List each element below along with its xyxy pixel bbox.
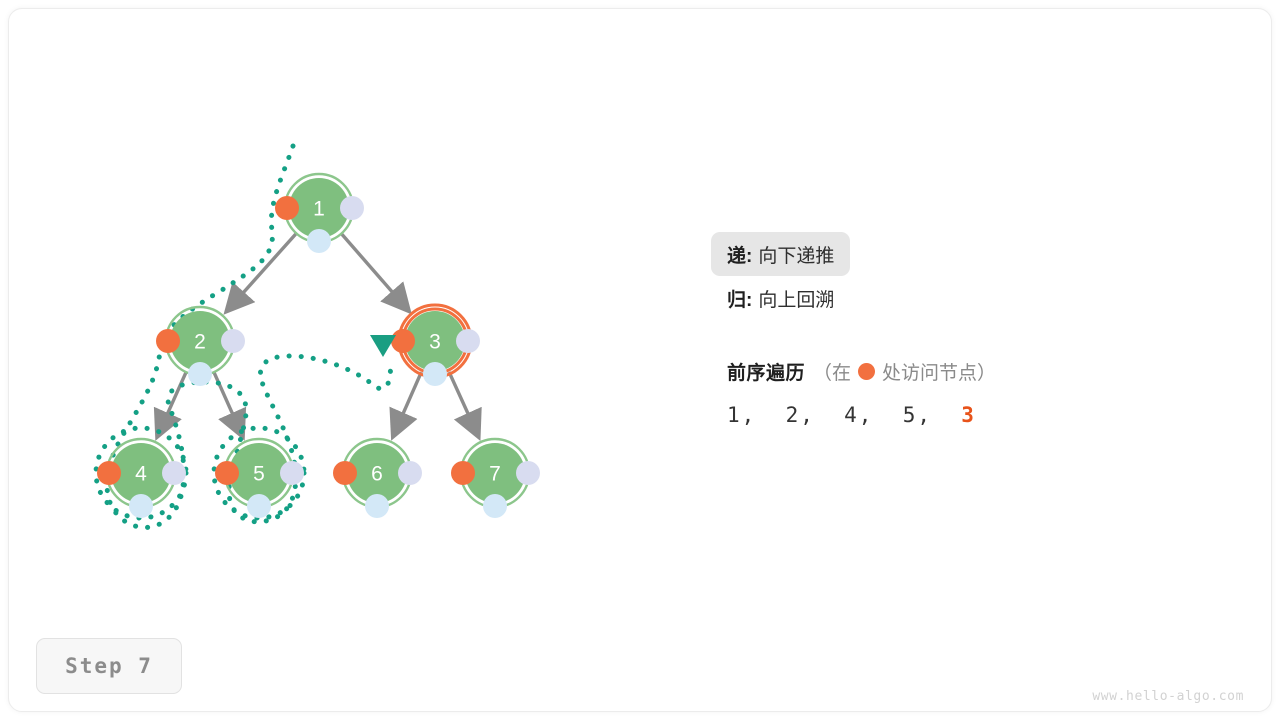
node-label: 1 (313, 198, 325, 221)
node-label: 4 (135, 463, 147, 486)
tree-node-7[interactable]: 7 (451, 439, 540, 518)
node-label: 7 (489, 463, 501, 486)
node-visit-dot (215, 461, 239, 485)
node-bottom-dot (188, 362, 212, 386)
tree-edge-n3-n6 (394, 372, 421, 434)
node-label: 3 (429, 331, 441, 354)
legend-value-return: 向上回溯 (758, 285, 834, 312)
tree-edge-n1-n3 (341, 234, 407, 310)
legend-panel: 递: 向下递推 归: 向上回溯 (727, 232, 1207, 320)
tree-node-2[interactable]: 2 (156, 307, 245, 386)
node-visit-dot (156, 329, 180, 353)
node-visit-dot (451, 461, 475, 485)
legend-value-recurse: 向下递推 (758, 241, 834, 268)
node-right-dot (280, 461, 304, 485)
traversal-title-main: 前序遍历 (727, 358, 805, 385)
traversal-note-suffix: 处访问节点） (882, 358, 996, 385)
node-bottom-dot (423, 362, 447, 386)
traversal-sequence: 1, 2, 4, 5, 3 (727, 403, 1227, 427)
legend-key-recurse: 递: (727, 241, 752, 268)
tree-edge-n1-n2 (228, 233, 296, 309)
node-right-dot (516, 461, 540, 485)
tree-nodes: 1234567 (97, 174, 540, 518)
node-label: 5 (253, 463, 265, 486)
node-right-dot (398, 461, 422, 485)
tree-node-6[interactable]: 6 (333, 439, 422, 518)
node-bottom-dot (247, 494, 271, 518)
node-label: 6 (371, 463, 383, 486)
legend-row-return: 归: 向上回溯 (711, 276, 1207, 320)
tree-edge-n3-n7 (449, 372, 478, 435)
node-right-dot (162, 461, 186, 485)
visit-marker-icon (858, 363, 875, 380)
legend-row-recurse: 递: 向下递推 (711, 232, 850, 276)
traversal-title: 前序遍历 （在 处访问节点） (727, 358, 1227, 385)
traversal-title-note: （在 处访问节点） (813, 358, 996, 385)
node-right-dot (221, 329, 245, 353)
traversal-sequence-current: 3 (961, 403, 976, 427)
tree-node-3[interactable]: 3 (370, 305, 480, 386)
node-bottom-dot (483, 494, 507, 518)
traversal-block: 前序遍历 （在 处访问节点） 1, 2, 4, 5, 3 (727, 358, 1227, 427)
traversal-note-prefix: （在 (813, 358, 851, 385)
node-bottom-dot (307, 229, 331, 253)
node-bottom-dot (129, 494, 153, 518)
node-right-dot (456, 329, 480, 353)
watermark: www.hello-algo.com (1092, 689, 1244, 704)
node-bottom-dot (365, 494, 389, 518)
node-visit-dot (391, 329, 415, 353)
screenshot-root: 1234567 递: 向下递推 归: 向上回溯 前序遍历 （在 处访问节点） 1… (0, 0, 1280, 720)
tree-edge-n2-n4 (158, 372, 186, 435)
node-visit-dot (275, 196, 299, 220)
legend-key-return: 归: (727, 285, 752, 312)
node-label: 2 (194, 331, 206, 354)
binary-tree-diagram: 1234567 (0, 0, 680, 720)
node-visit-dot (97, 461, 121, 485)
node-right-dot (340, 196, 364, 220)
traversal-sequence-visited: 1, 2, 4, 5, (727, 403, 961, 427)
node-visit-dot (333, 461, 357, 485)
step-badge: Step 7 (36, 638, 182, 694)
